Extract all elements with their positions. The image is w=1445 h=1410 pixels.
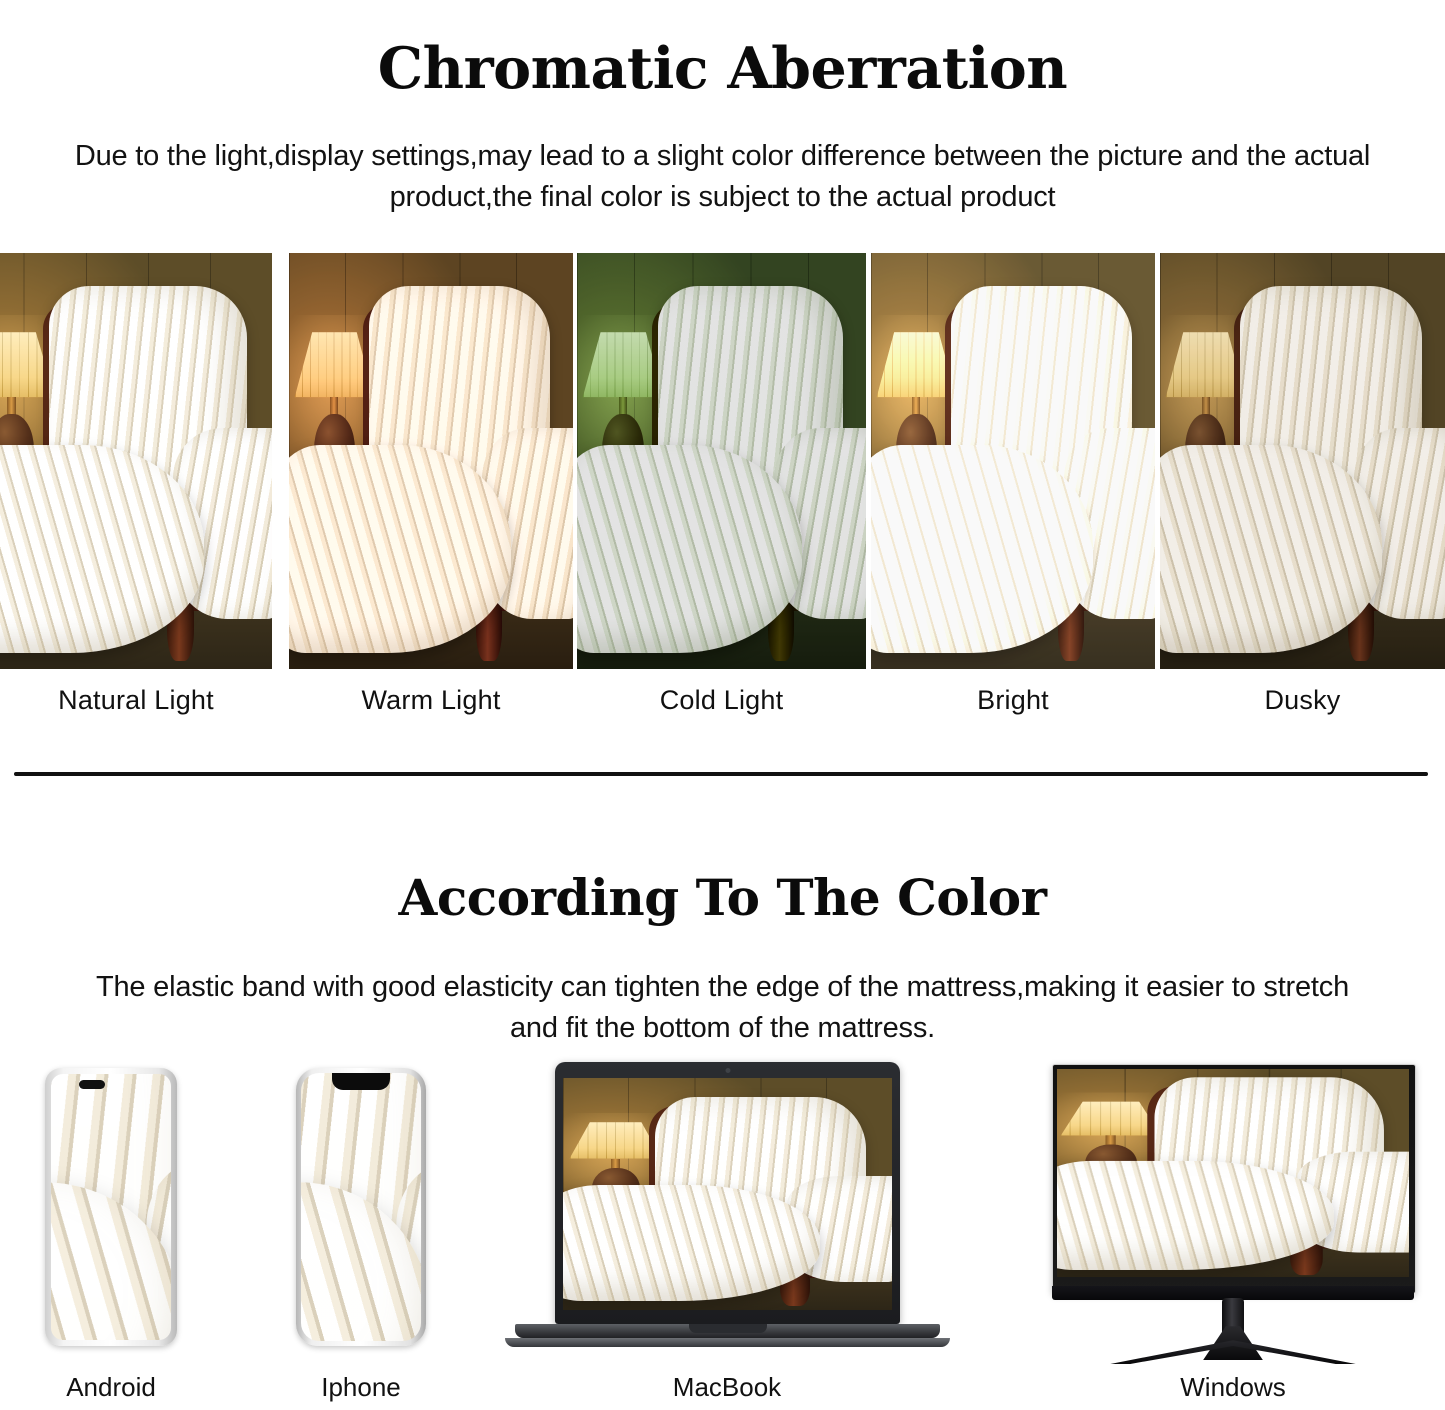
- light-panel-dusky: Dusky: [1160, 253, 1445, 669]
- page-title-chromatic-aberration: Chromatic Aberration: [0, 38, 1445, 98]
- android-front-camera-icon: [79, 1080, 105, 1089]
- lamp-shade: [1061, 1102, 1162, 1136]
- macbook-front-camera-icon: [725, 1068, 730, 1073]
- macbook-screen-photo: [563, 1078, 892, 1310]
- scene-throw-blanket-seat: [1057, 1161, 1334, 1271]
- scene-throw-blanket-seat: [289, 445, 511, 653]
- page-title-according-to-the-color: According To The Color: [0, 870, 1445, 926]
- light-panel-photo-warm: [289, 253, 573, 669]
- device-iphone: [296, 1068, 426, 1346]
- scene-throw-blanket-seat: [1160, 445, 1382, 653]
- light-panel-caption: Warm Light: [289, 685, 573, 716]
- device-caption-iphone: Iphone: [241, 1372, 481, 1403]
- monitor-screen-photo: [1057, 1069, 1409, 1277]
- light-panel-caption: Natural Light: [0, 685, 272, 716]
- light-panel-photo-dusky: [1160, 253, 1445, 669]
- chromatic-aberration-description: Due to the light,display settings,may le…: [58, 136, 1388, 218]
- light-panel-bright: Bright: [871, 253, 1155, 669]
- device-caption-android: Android: [0, 1372, 231, 1403]
- light-panel-photo-bright: [871, 253, 1155, 669]
- macbook-base-foot: [505, 1338, 950, 1347]
- scene-throw-blanket-seat: [563, 1185, 820, 1301]
- android-screen-photo: [51, 1074, 171, 1340]
- device-macbook: [505, 1056, 950, 1356]
- light-panel-photo-natural: [0, 253, 272, 669]
- light-panel-caption: Cold Light: [577, 685, 866, 716]
- device-mockup-row: Android Iphone MacBook Windows: [0, 1056, 1445, 1410]
- section-divider: [14, 772, 1428, 776]
- device-windows-monitor: [1048, 1058, 1418, 1358]
- device-caption-macbook: MacBook: [607, 1372, 847, 1403]
- scene-throw-blanket-seat: [871, 445, 1093, 653]
- light-condition-panel-strip: Natural LightWarm LightCold LightBrightD…: [0, 253, 1445, 669]
- macbook-trackpad-notch: [689, 1324, 767, 1333]
- light-panel-photo-cold: [577, 253, 866, 669]
- light-panel-caption: Dusky: [1160, 685, 1445, 716]
- iphone-screen-photo: [301, 1073, 421, 1341]
- light-panel-warm: Warm Light: [289, 253, 573, 669]
- light-panel-cold: Cold Light: [577, 253, 866, 669]
- lamp-shade: [570, 1122, 662, 1158]
- according-to-the-color-description: The elastic band with good elasticity ca…: [78, 967, 1368, 1049]
- device-android-phone: [45, 1068, 177, 1346]
- scene-throw-blanket-seat: [577, 445, 802, 653]
- light-panel-natural: Natural Light: [0, 253, 272, 669]
- light-panel-caption: Bright: [871, 685, 1155, 716]
- device-caption-windows: Windows: [1113, 1372, 1353, 1403]
- iphone-notch-icon: [332, 1073, 390, 1090]
